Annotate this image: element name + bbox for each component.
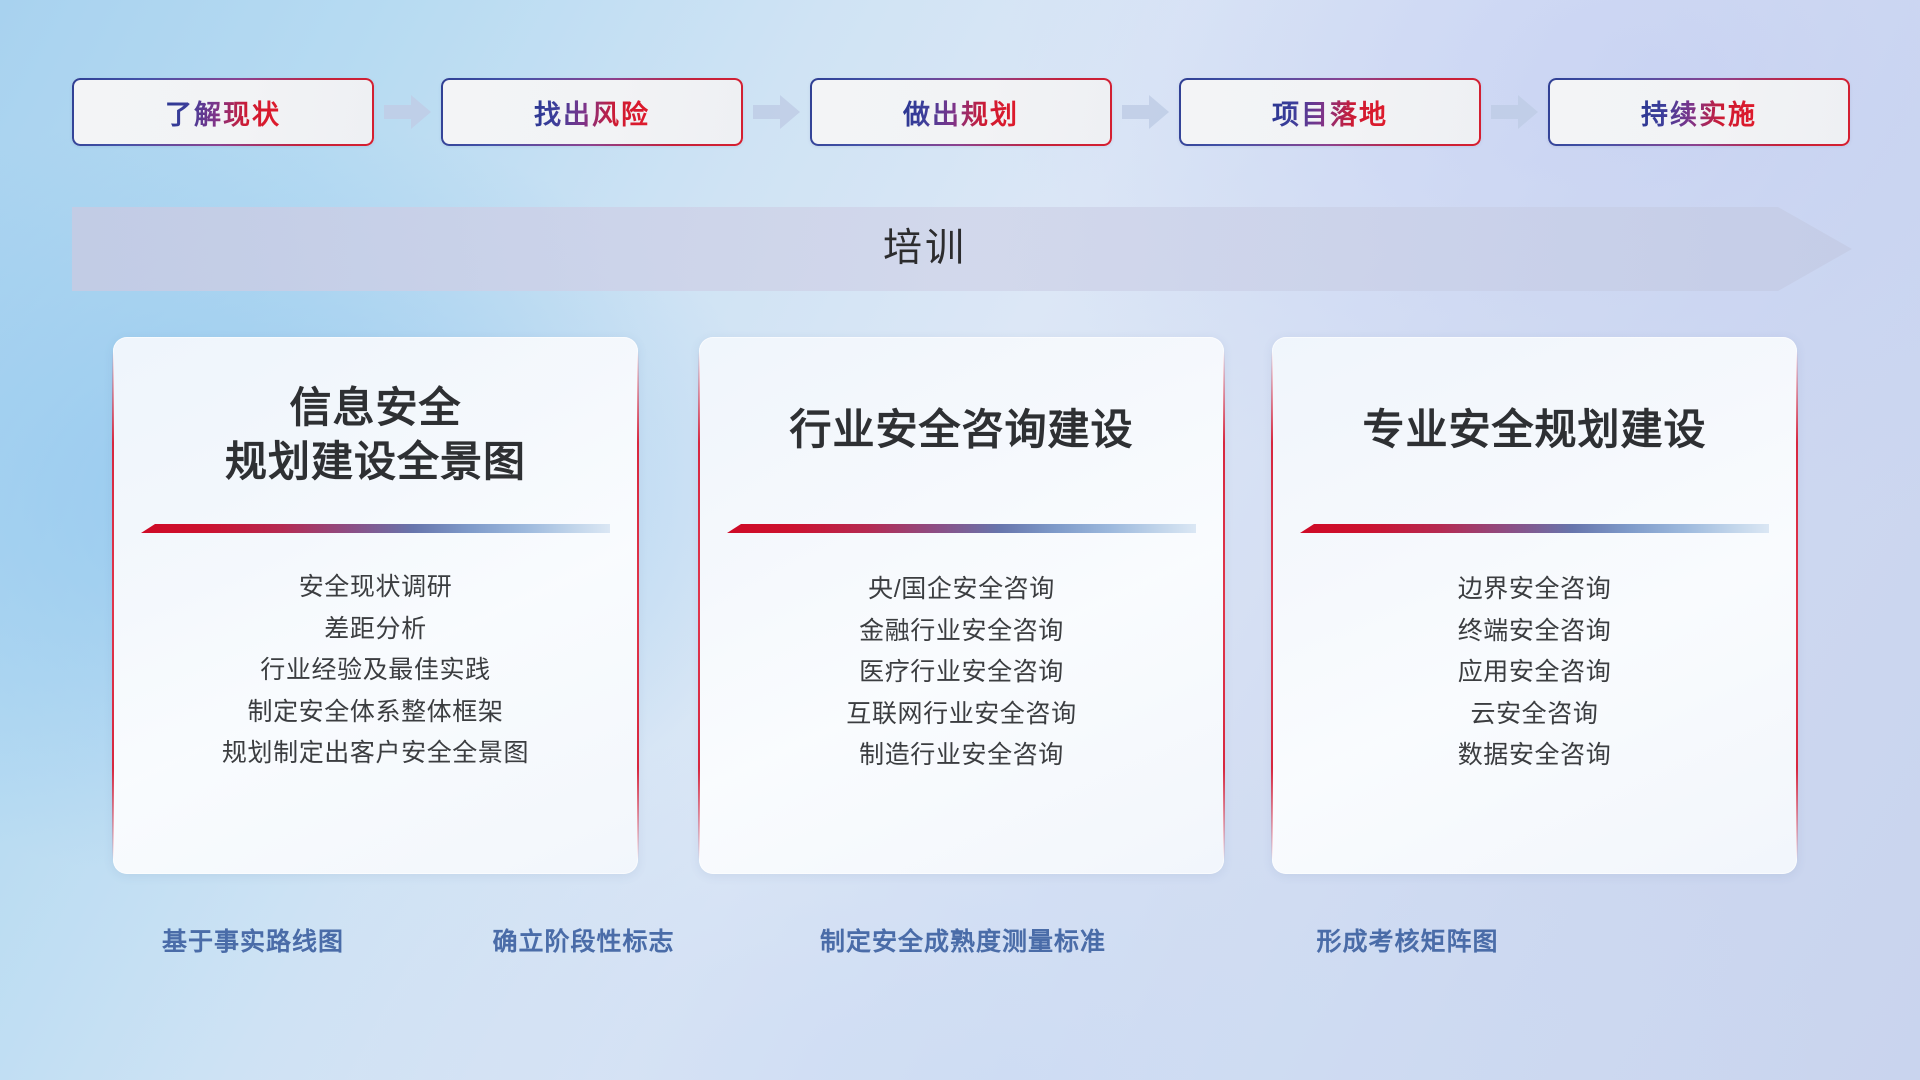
card-professional-security-planning[interactable]: 专业安全规划建设 边界安全咨询 终端安全咨询 应用安全咨询 云安全咨询 数据安全…	[1272, 337, 1797, 874]
card-industry-security-consulting[interactable]: 行业安全咨询建设 央/国企安全咨询 金融行业安全咨询 医疗行业安全咨询 互联网行…	[699, 337, 1224, 874]
step-box-1[interactable]: 了解现状	[72, 78, 374, 146]
step-label-4: 项目落地	[1272, 93, 1388, 132]
list-item: 安全现状调研	[113, 567, 638, 609]
card-3-title: 专业安全规划建设	[1272, 403, 1797, 457]
list-item: 金融行业安全咨询	[699, 611, 1224, 653]
card-1-title: 信息安全 规划建设全景图	[113, 381, 638, 489]
step-box-3[interactable]: 做出规划	[810, 78, 1112, 146]
list-item: 央/国企安全咨询	[699, 569, 1224, 611]
training-banner-label: 培训	[72, 207, 1778, 291]
step-box-2[interactable]: 找出风险	[441, 78, 743, 146]
bottom-label-1: 基于事实路线图	[133, 922, 373, 958]
card-information-security-panorama[interactable]: 信息安全 规划建设全景图 安全现状调研 差距分析 行业经验及最佳实践 制定安全体…	[113, 337, 638, 874]
bottom-label-3: 制定安全成熟度测量标准	[778, 922, 1148, 958]
list-item: 数据安全咨询	[1272, 735, 1797, 777]
list-item: 制造行业安全咨询	[699, 735, 1224, 777]
card-3-title-line1: 专业安全规划建设	[1272, 403, 1797, 457]
card-2-list: 央/国企安全咨询 金融行业安全咨询 医疗行业安全咨询 互联网行业安全咨询 制造行…	[699, 569, 1224, 777]
card-1-title-line2: 规划建设全景图	[113, 435, 638, 489]
step-arrow-3	[1112, 78, 1179, 146]
slide-canvas: 了解现状 找出风险 做出规划 项目落地	[0, 0, 1920, 1080]
step-box-5[interactable]: 持续实施	[1548, 78, 1850, 146]
card-2-title-line1: 行业安全咨询建设	[699, 403, 1224, 457]
bottom-label-2: 确立阶段性标志	[461, 922, 706, 958]
list-item: 规划制定出客户安全全景图	[113, 733, 638, 775]
card-group: 信息安全 规划建设全景图 安全现状调研 差距分析 行业经验及最佳实践 制定安全体…	[0, 337, 1920, 877]
card-3-divider	[1300, 524, 1769, 533]
list-item: 行业经验及最佳实践	[113, 650, 638, 692]
list-item: 医疗行业安全咨询	[699, 652, 1224, 694]
step-label-1: 了解现状	[165, 93, 281, 132]
training-banner: 培训	[72, 207, 1852, 291]
list-item: 云安全咨询	[1272, 694, 1797, 736]
step-arrow-1	[374, 78, 441, 146]
list-item: 互联网行业安全咨询	[699, 694, 1224, 736]
card-2-title: 行业安全咨询建设	[699, 403, 1224, 457]
card-1-title-line1: 信息安全	[113, 381, 638, 435]
step-label-5: 持续实施	[1641, 93, 1757, 132]
list-item: 制定安全体系整体框架	[113, 692, 638, 734]
step-label-3: 做出规划	[903, 93, 1019, 132]
list-item: 边界安全咨询	[1272, 569, 1797, 611]
card-1-list: 安全现状调研 差距分析 行业经验及最佳实践 制定安全体系整体框架 规划制定出客户…	[113, 567, 638, 775]
card-2-divider	[727, 524, 1196, 533]
bottom-label-4: 形成考核矩阵图	[1285, 922, 1530, 958]
step-arrow-4	[1481, 78, 1548, 146]
list-item: 差距分析	[113, 609, 638, 651]
card-1-divider	[141, 524, 610, 533]
step-box-4[interactable]: 项目落地	[1179, 78, 1481, 146]
list-item: 终端安全咨询	[1272, 611, 1797, 653]
process-step-row: 了解现状 找出风险 做出规划 项目落地	[72, 78, 1852, 146]
list-item: 应用安全咨询	[1272, 652, 1797, 694]
step-label-2: 找出风险	[534, 93, 650, 132]
step-arrow-2	[743, 78, 810, 146]
card-3-list: 边界安全咨询 终端安全咨询 应用安全咨询 云安全咨询 数据安全咨询	[1272, 569, 1797, 777]
